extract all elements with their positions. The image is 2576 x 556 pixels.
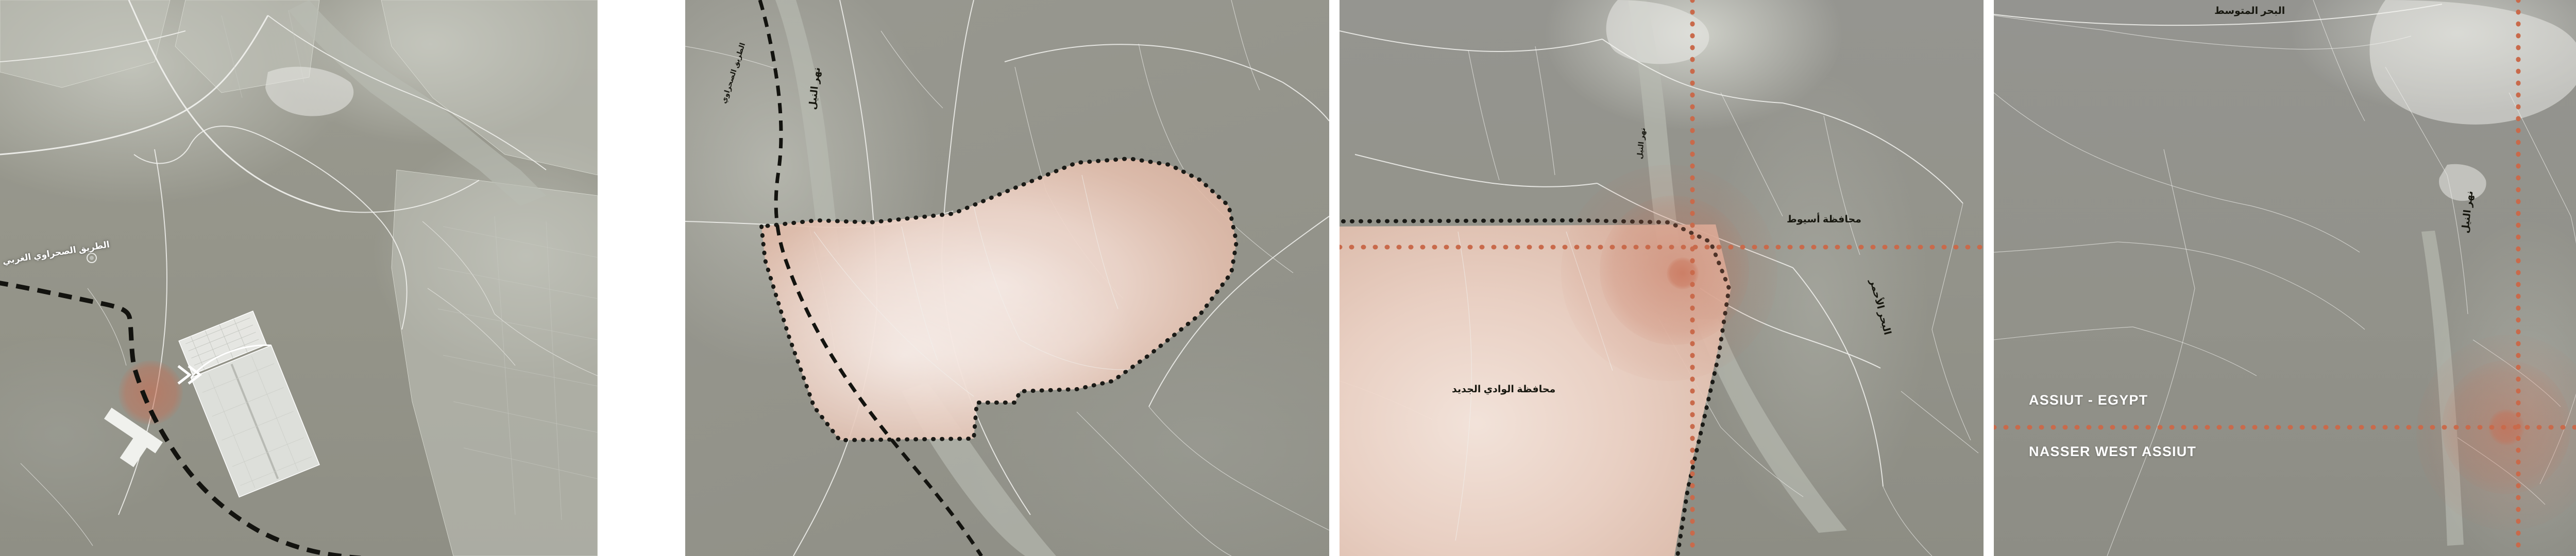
panel-gap-1 bbox=[598, 0, 641, 556]
terrain-base-p3 bbox=[1340, 0, 1984, 556]
terrain-base-p2 bbox=[685, 0, 1329, 556]
terrain-base-p4 bbox=[1994, 0, 2576, 556]
panel-governorates[interactable]: محافظة أسيوط محافظة الوادي الجديد البحر … bbox=[1340, 0, 1984, 556]
panel-site-masterplan[interactable]: الطريق الصحراوي الغربي bbox=[0, 0, 598, 556]
site-access-slab bbox=[90, 396, 173, 489]
panel-country-egypt[interactable]: البحر المتوسط نهر النيل ASSIUT - EGYPT N… bbox=[1994, 0, 2576, 556]
panel-gap-2 bbox=[1329, 0, 1334, 556]
masterplan-footprint[interactable] bbox=[183, 309, 317, 505]
panel-gap-3 bbox=[1984, 0, 1989, 556]
panel-site-boundary[interactable]: الطريق الصحراوي نهر النيل bbox=[685, 0, 1329, 556]
location-board: الطريق الصحراوي الغربي bbox=[0, 0, 2576, 556]
